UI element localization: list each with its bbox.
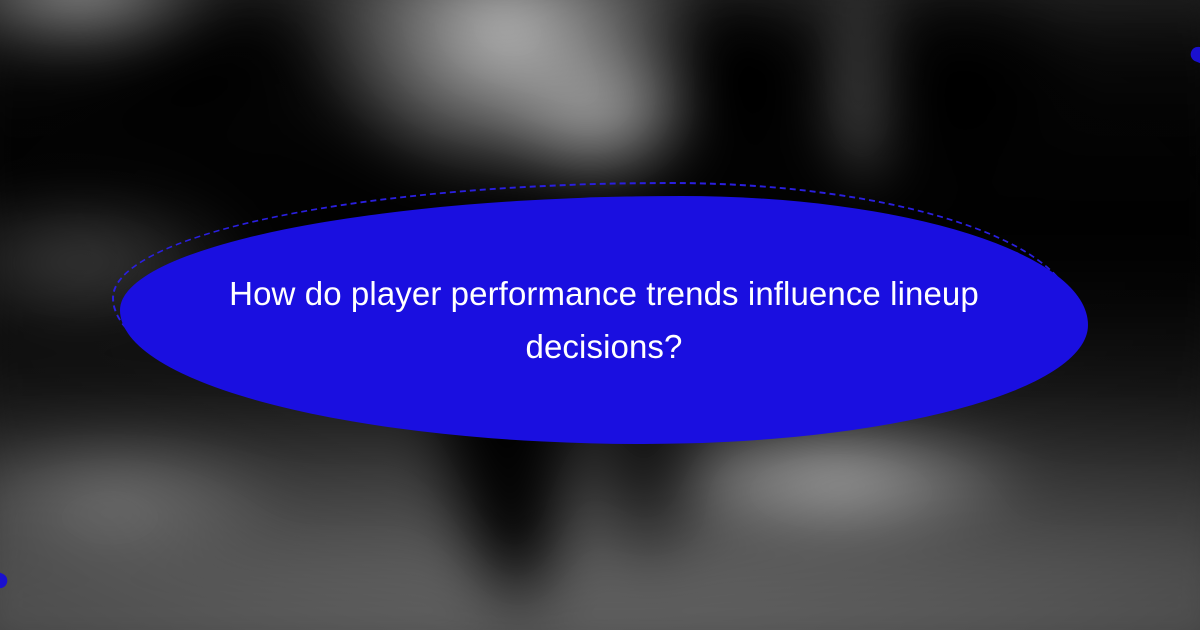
question-text: How do player performance trends influen… — [169, 267, 1039, 374]
question-card: How do player performance trends influen… — [104, 182, 1096, 444]
card-blob-body: How do player performance trends influen… — [120, 196, 1088, 444]
question-card-graphic: How do player performance trends influen… — [0, 0, 1200, 630]
